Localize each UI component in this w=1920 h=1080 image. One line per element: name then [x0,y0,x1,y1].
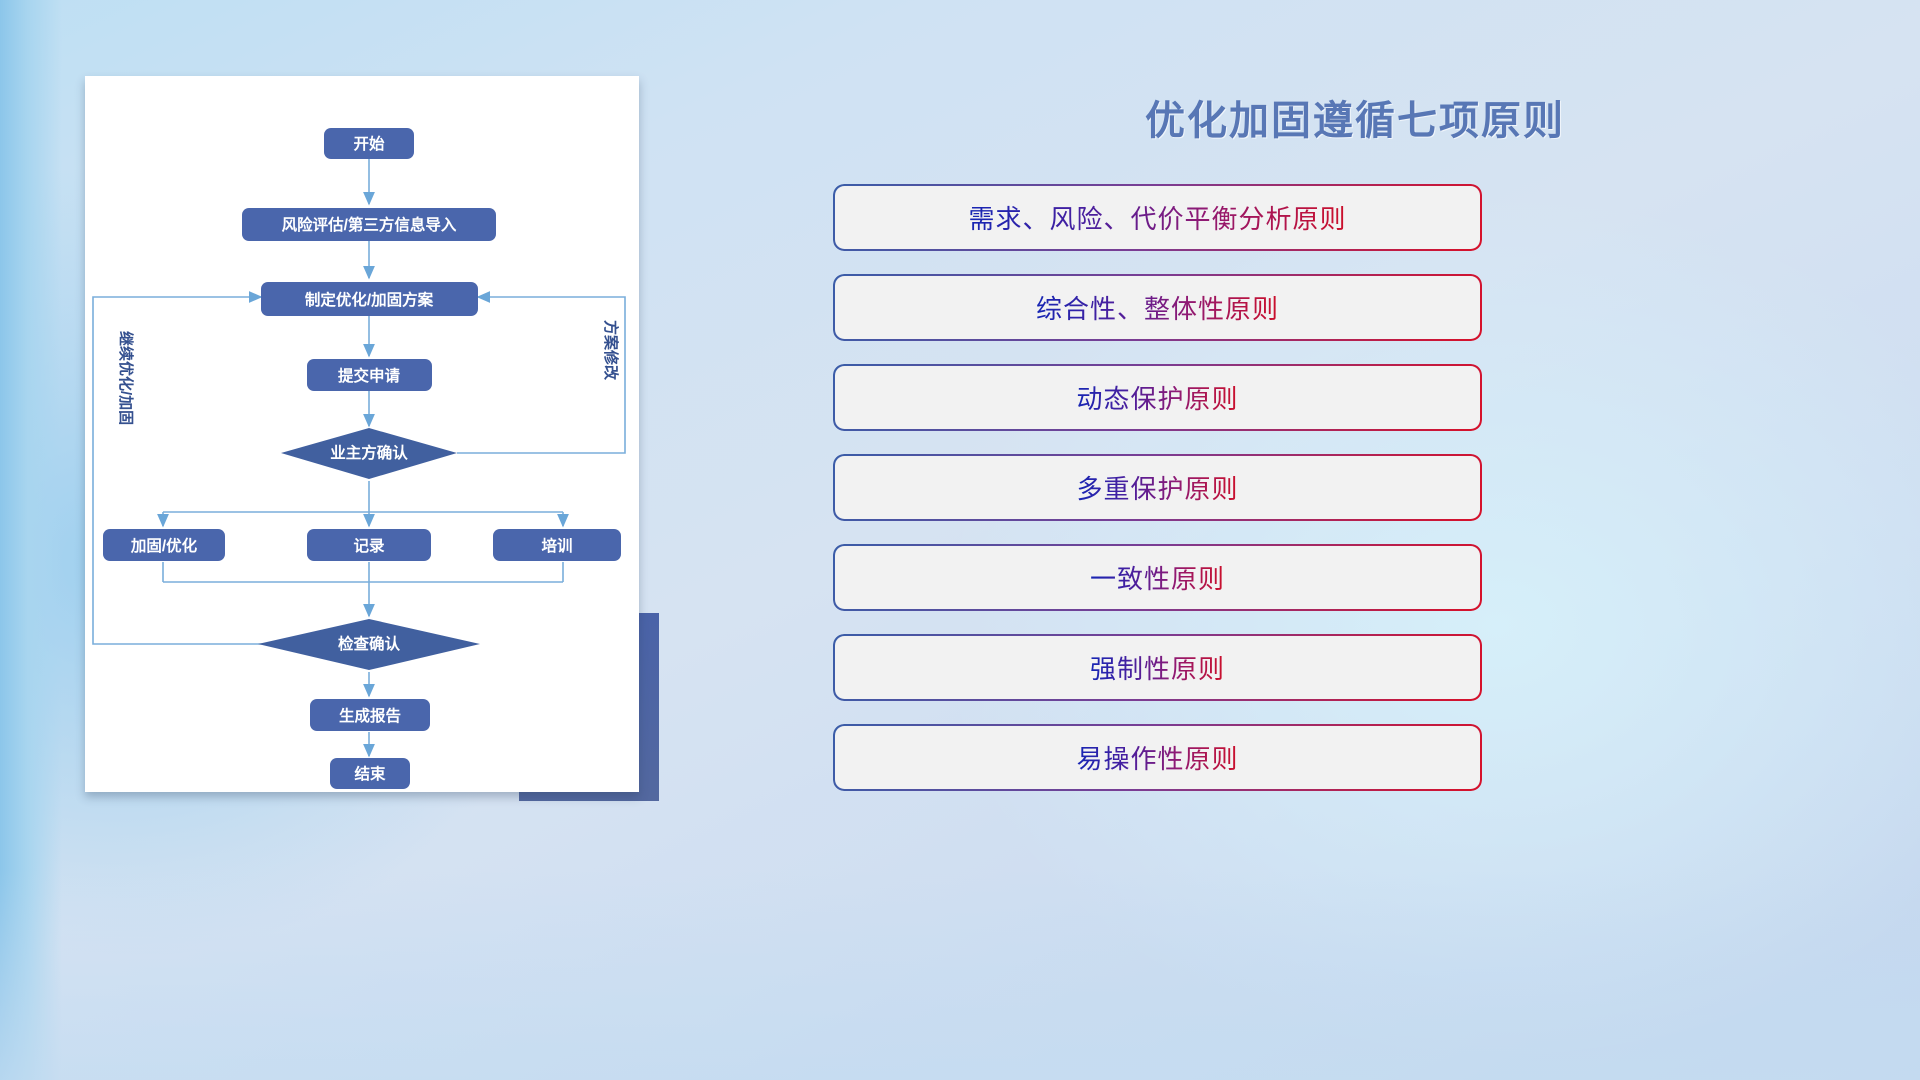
principle-label: 综合性、整体性原则 [1036,289,1279,326]
node-risk-assessment: 风险评估/第三方信息导入 [242,208,496,241]
node-submit: 提交申请 [307,359,432,391]
principle-label: 需求、风险、代价平衡分析原则 [968,199,1346,236]
node-label: 结束 [353,764,386,783]
node-label: 生成报告 [339,706,401,725]
node-start: 开始 [324,128,414,159]
node-label: 提交申请 [338,366,401,385]
slide-canvas: 开始 风险评估/第三方信息导入 制定优化/加固方案 提交申请 业主方确认 加固/… [0,0,1920,1080]
node-check-confirm: 检查确认 [258,619,480,670]
principle-item[interactable]: 需求、风险、代价平衡分析原则 [835,186,1480,249]
panel-title: 优化加固遵循七项原则 [790,88,1920,146]
node-report: 生成报告 [310,699,430,731]
principles-list: 需求、风险、代价平衡分析原则 综合性、整体性原则 动态保护原则 多重保护原则 一… [835,186,1480,816]
node-label: 加固/优化 [130,536,198,555]
principle-label: 易操作性原则 [1076,739,1238,776]
node-label: 记录 [353,537,385,555]
principle-item[interactable]: 动态保护原则 [835,366,1480,429]
edge-label-right-loop: 方案修改 [602,320,620,381]
principle-item[interactable]: 强制性原则 [835,636,1480,699]
node-label: 制定优化/加固方案 [305,290,434,309]
node-reinforce: 加固/优化 [103,529,225,561]
node-label: 业主方确认 [330,443,408,462]
principles-panel: 优化加固遵循七项原则 需求、风险、代价平衡分析原则 综合性、整体性原则 动态保护… [790,0,1920,1080]
node-label: 检查确认 [338,634,401,653]
principle-label: 强制性原则 [1090,649,1225,686]
principle-label: 动态保护原则 [1076,379,1238,416]
process-flowchart: 开始 风险评估/第三方信息导入 制定优化/加固方案 提交申请 业主方确认 加固/… [85,76,639,792]
node-label: 开始 [353,134,385,153]
edge-label-left-loop: 继续优化/加固 [117,331,135,425]
node-training: 培训 [493,529,621,561]
principle-label: 一致性原则 [1090,559,1225,596]
flowchart-card: 开始 风险评估/第三方信息导入 制定优化/加固方案 提交申请 业主方确认 加固/… [85,76,639,792]
node-label: 风险评估/第三方信息导入 [282,215,457,234]
node-label: 培训 [541,536,572,555]
principle-item[interactable]: 一致性原则 [835,546,1480,609]
principle-item[interactable]: 多重保护原则 [835,456,1480,519]
node-end: 结束 [330,758,410,789]
principle-item[interactable]: 易操作性原则 [835,726,1480,789]
node-owner-confirm: 业主方确认 [281,428,457,479]
node-record: 记录 [307,529,431,561]
edge-loop-right [457,297,625,453]
node-plan: 制定优化/加固方案 [261,282,478,316]
principle-label: 多重保护原则 [1076,469,1238,506]
principle-item[interactable]: 综合性、整体性原则 [835,276,1480,339]
